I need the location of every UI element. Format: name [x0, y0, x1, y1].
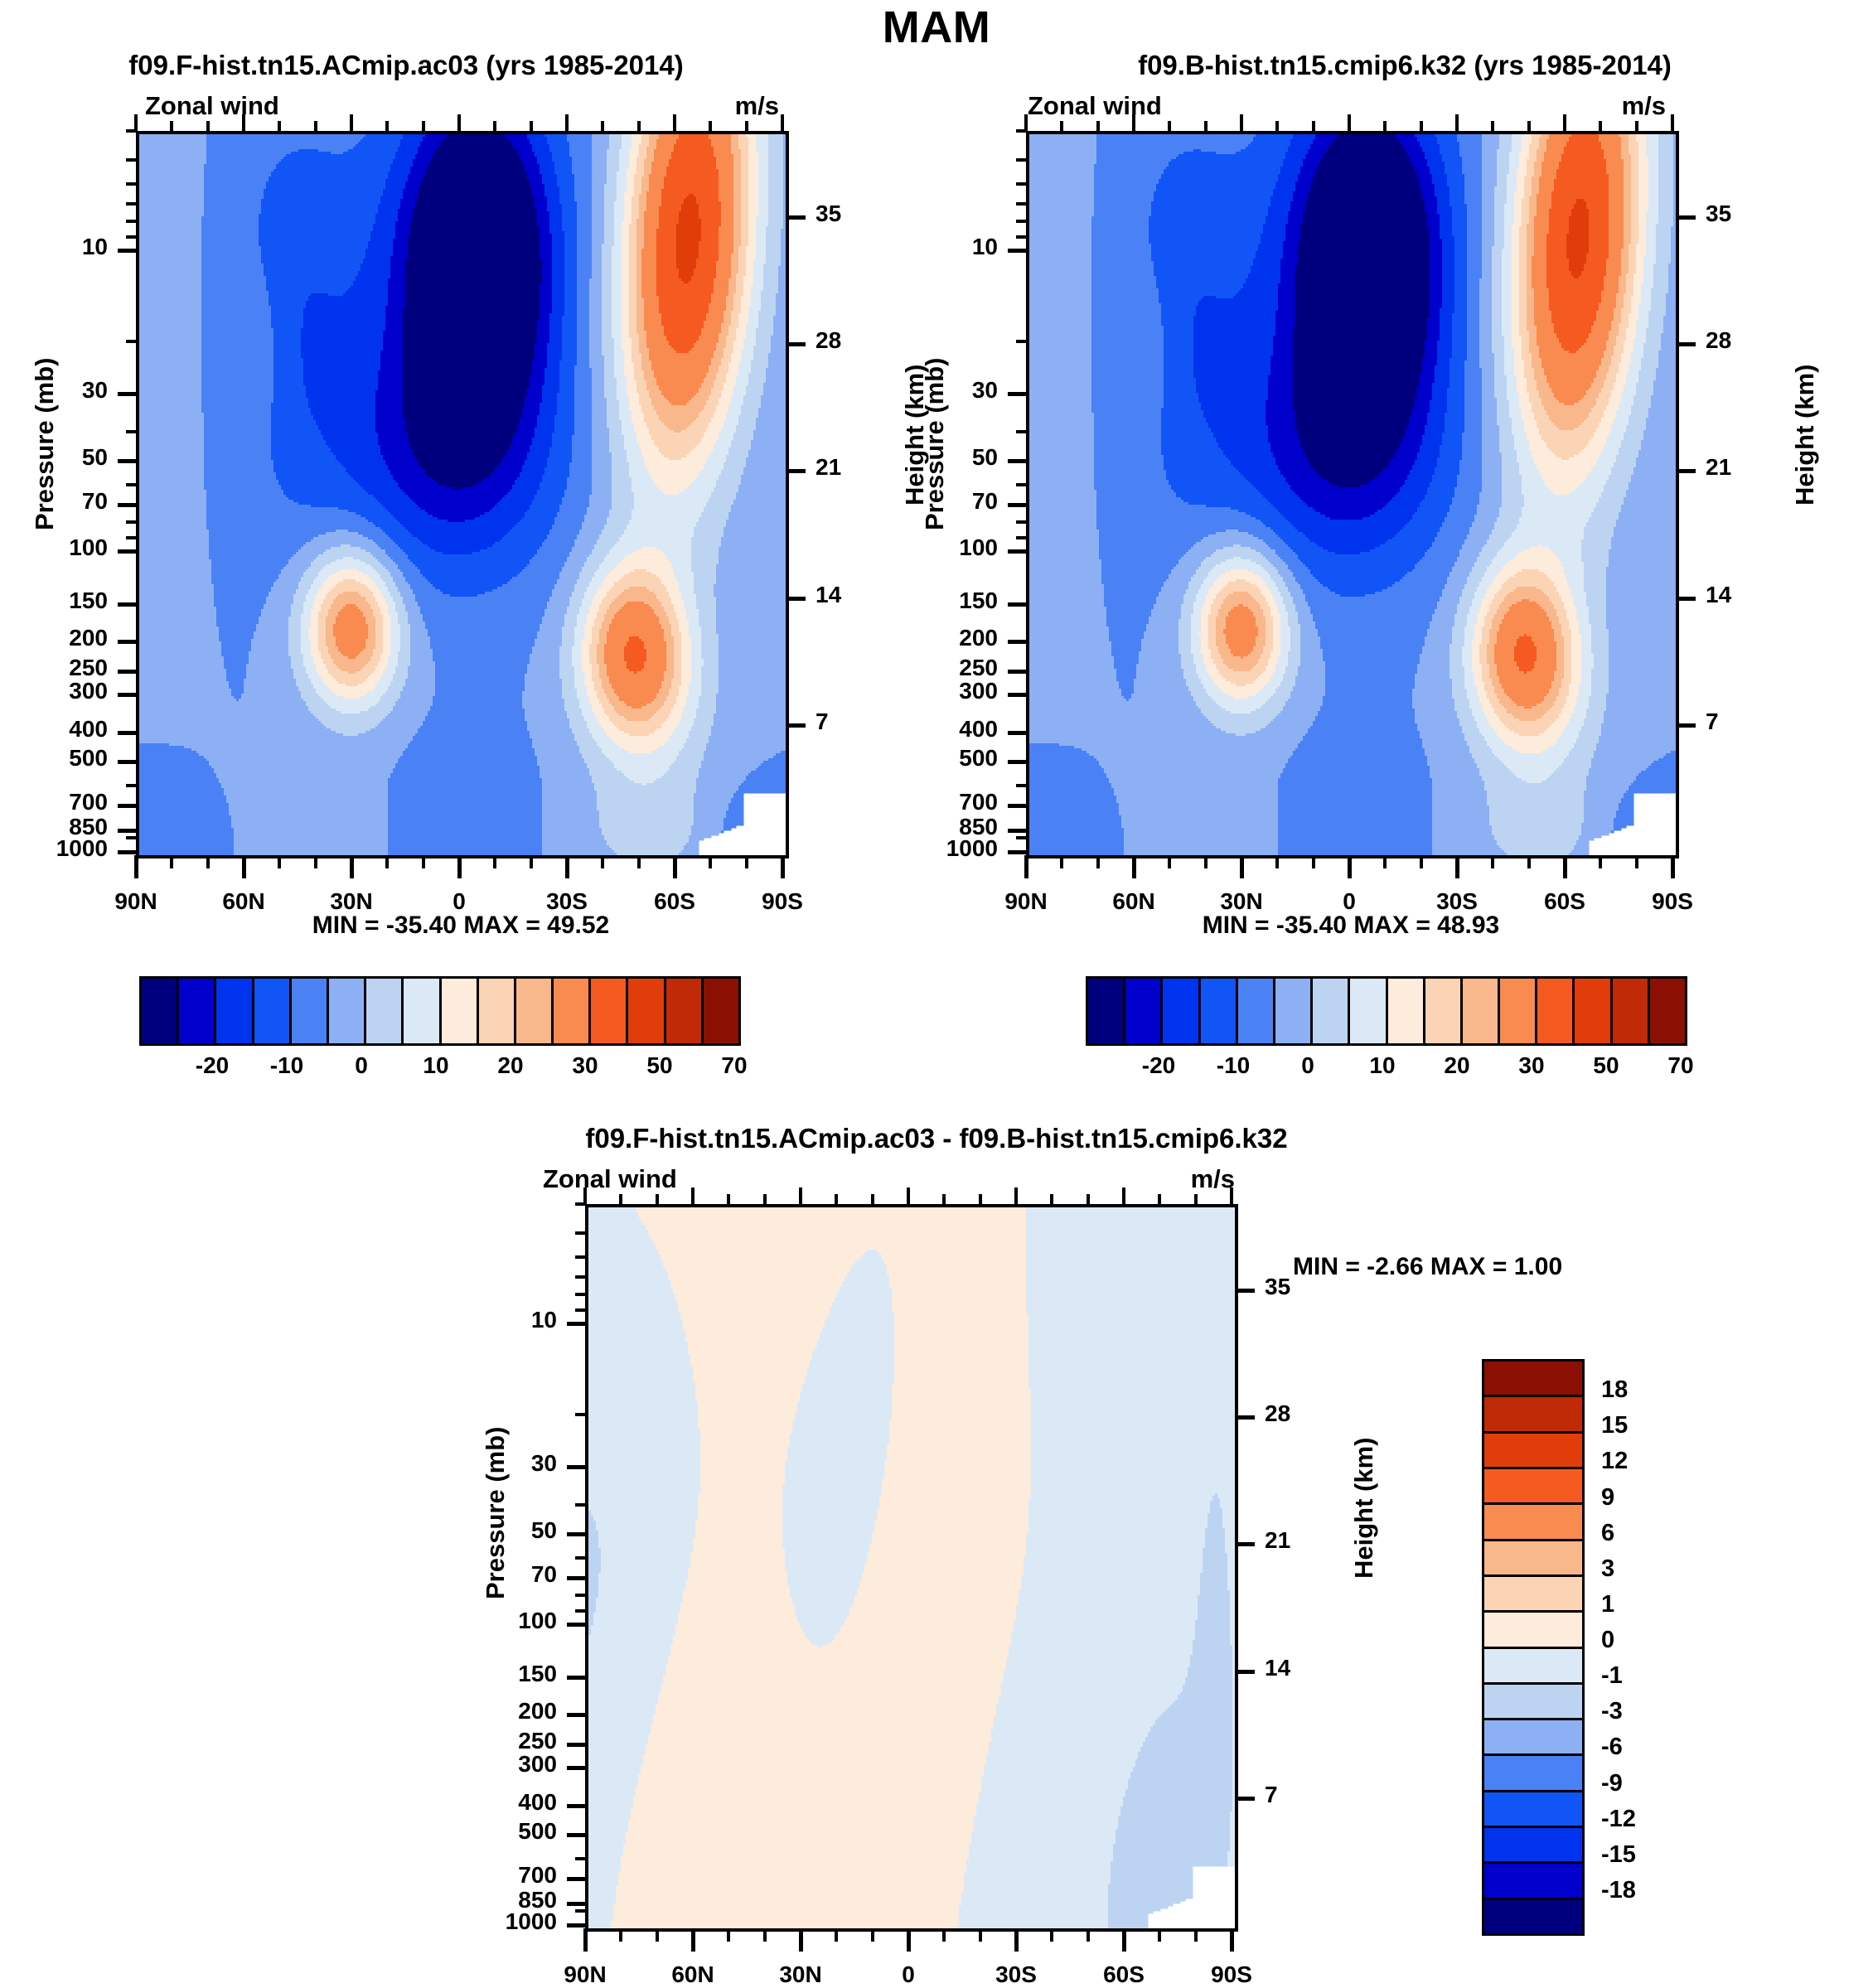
panel-title-top-left: f09.F-hist.tn15.ACmip.ac03 (yrs 1985-201…	[8, 50, 804, 81]
contour-plot-top-left	[136, 131, 789, 859]
units-label-top-left: m/s	[0, 91, 779, 121]
decoration	[139, 134, 786, 855]
page-title: MAM	[0, 2, 1873, 53]
